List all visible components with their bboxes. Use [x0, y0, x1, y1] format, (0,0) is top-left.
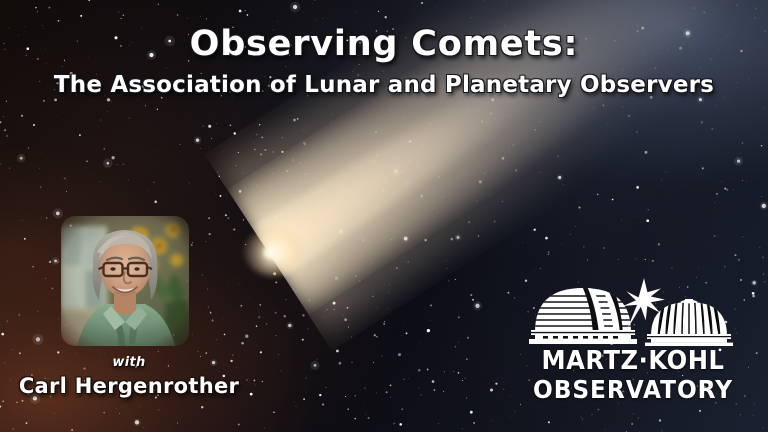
page-title: Observing Comets:	[0, 26, 768, 64]
speaker-name: Carl Hergenrother	[0, 374, 258, 398]
page-subtitle: The Association of Lunar and Planetary O…	[0, 73, 768, 98]
twin-domes-icon	[527, 274, 739, 346]
logo-name-line1: MARTZ·KOHL	[521, 348, 744, 374]
portrait-image	[61, 216, 189, 346]
speaker-credit: with Carl Hergenrother	[0, 355, 258, 398]
comet-nucleus	[263, 246, 280, 259]
speaker-with-label: with	[0, 355, 258, 370]
title-block: Observing Comets: The Association of Lun…	[0, 26, 768, 98]
observatory-logo: MARTZ·KOHL OBSERVATORY	[513, 274, 753, 404]
logo-name-line2: OBSERVATORY	[521, 377, 744, 402]
slide-canvas: Observing Comets: The Association of Lun…	[0, 0, 768, 432]
speaker-portrait	[61, 216, 189, 346]
left-dome	[527, 282, 639, 344]
logo-wordmark: MARTZ·KOHL OBSERVATORY	[513, 348, 753, 402]
right-dome	[645, 296, 733, 346]
